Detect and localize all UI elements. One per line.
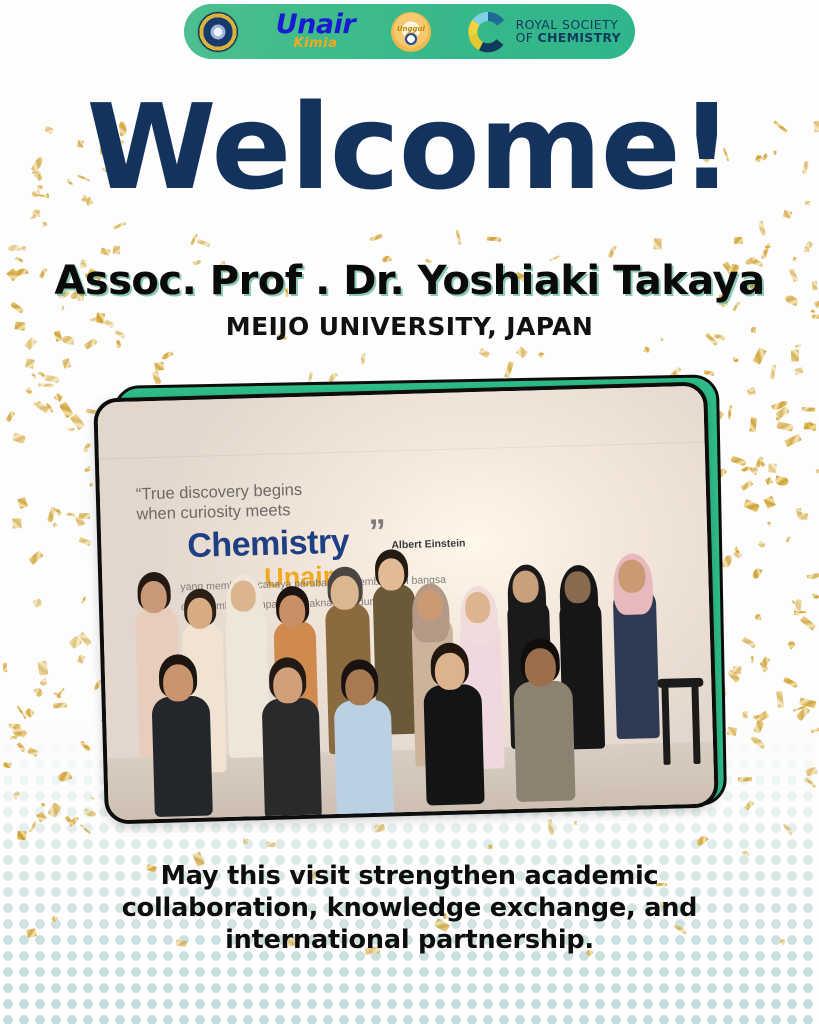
photo-chair-seat [657,678,703,688]
photo-person-front-2-head [273,667,303,704]
photo-person-front-3-head [345,669,375,706]
speaker-name: Assoc. Prof . Dr. Yoshiaki Takaya [0,258,819,304]
page-title-welcome: Welcome! [0,88,819,206]
rsc-chemistry: CHEMISTRY [538,30,622,45]
photo-person-front-1-head [163,664,194,702]
photo-person-back-9-head [512,570,539,603]
unair-wordmark-sub: Kimia [294,38,338,49]
backdrop-quote: “True discovery begins when curiosity me… [136,478,397,525]
photo-person-back-1-head [140,581,167,614]
royal-society-of-chemistry-logo: ROYAL SOCIETY OF CHEMISTRY [467,11,621,53]
photo-person-back-8-head [465,592,491,624]
unggul-seal-label: Unggul [397,25,425,33]
photo-person-front-2-body [262,697,322,819]
photo-person-back-6-head [378,558,405,591]
closing-line-3: international partnership. [60,924,759,956]
photo-person-back-5-head [330,575,359,610]
photo-person-front-5-body [513,680,575,802]
closing-line-1: May this visit strengthen academic [60,860,759,892]
photo-person-front-4-body [423,684,484,806]
photo-person-front-3-body [334,699,394,820]
photo-person-front-1-body [152,696,213,818]
photo-person-back-10-head [564,571,591,604]
rsc-of: OF [516,30,538,45]
unair-wordmark-main: Unair [276,13,355,37]
photo-person-back-7-head [417,589,443,621]
photo-person-back-3-head [230,580,256,612]
photo-card-group: “True discovery begins when curiosity me… [95,370,725,820]
unggul-seal-icon: Unggul [391,12,431,52]
backdrop-attribution: Albert Einstein [391,537,465,551]
rsc-logo-line-2: OF CHEMISTRY [516,32,621,45]
closing-line-2: collaboration, knowledge exchange, and [60,892,759,924]
rsc-c-mark-icon [467,11,509,53]
photo-person-front-5-head [524,648,556,687]
unair-seal-icon [198,12,238,52]
closing-message: May this visit strengthen academic colla… [60,860,759,956]
photo-person-front-4-head [434,652,465,690]
speaker-affiliation: MEIJO UNIVERSITY, JAPAN [0,312,819,341]
photo-person-back-4-head [279,595,306,628]
header-logo-bar: Unair Kimia Unggul ROYAL SOCIETY OF CHEM… [184,4,635,59]
group-photo-image: “True discovery begins when curiosity me… [97,386,714,821]
photo-person-back-11-head [618,559,646,593]
backdrop-headline: Chemistry [187,523,350,567]
unair-kimia-wordmark: Unair Kimia [276,13,355,49]
backdrop-close-quote: ” [368,513,386,552]
photo-person-back-2-head [187,597,213,629]
group-photo-frame: “True discovery begins when curiosity me… [93,382,719,825]
